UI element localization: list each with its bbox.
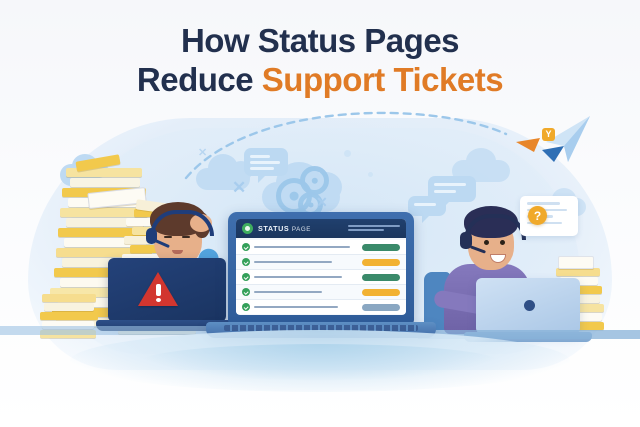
check-circle-icon	[242, 243, 250, 251]
status-row-label	[254, 246, 350, 249]
status-row-label	[254, 276, 342, 279]
status-badge	[362, 289, 400, 296]
question-magnifier-icon: ?	[528, 206, 547, 225]
right-laptop-lid	[476, 278, 580, 334]
page-title: How Status Pages Reduce Support Tickets	[0, 22, 640, 100]
title-line-1: How Status Pages	[0, 22, 640, 61]
title-line-2-prefix: Reduce	[137, 61, 262, 98]
status-row[interactable]	[236, 255, 406, 270]
status-page-heading-suffix: PAGE	[292, 226, 311, 233]
check-circle-icon	[242, 303, 250, 311]
title-line-2: Reduce Support Tickets	[0, 61, 640, 100]
plane-badge: Y	[542, 128, 555, 141]
status-badge	[362, 304, 400, 311]
status-row-label	[254, 261, 332, 264]
green-circle-check-icon	[242, 223, 253, 234]
status-badge	[362, 274, 400, 281]
illustration-canvas: How Status Pages Reduce Support Tickets …	[0, 0, 640, 427]
status-row[interactable]	[236, 240, 406, 255]
status-badge	[362, 259, 400, 266]
status-page-meta	[348, 225, 400, 233]
status-row[interactable]	[236, 270, 406, 285]
red-warning-triangle-icon	[138, 272, 178, 306]
status-page-screen: STATUS PAGE	[236, 219, 406, 315]
status-row-list	[236, 238, 406, 315]
x-mark-icon: ✕	[316, 194, 328, 211]
status-badge	[362, 244, 400, 251]
question-badge-label: ?	[534, 209, 541, 223]
status-page-laptop: STATUS PAGE	[228, 212, 414, 324]
status-page-heading: STATUS	[258, 224, 289, 233]
check-circle-icon	[242, 258, 250, 266]
status-page-title: STATUS PAGE	[258, 224, 311, 233]
status-row-label	[254, 291, 322, 294]
status-page-header: STATUS PAGE	[236, 219, 406, 238]
floor-reflection-inner	[140, 344, 500, 380]
check-circle-icon	[242, 273, 250, 281]
transition-arc	[180, 100, 520, 190]
check-circle-icon	[242, 288, 250, 296]
status-row[interactable]	[236, 300, 406, 314]
paper-plane-icon: Y	[512, 112, 596, 168]
laptop-logo-icon	[524, 300, 535, 311]
status-row[interactable]	[236, 285, 406, 300]
left-laptop-lid	[108, 258, 226, 322]
status-row-label	[254, 306, 338, 309]
title-line-2-highlight: Support Tickets	[262, 61, 503, 98]
